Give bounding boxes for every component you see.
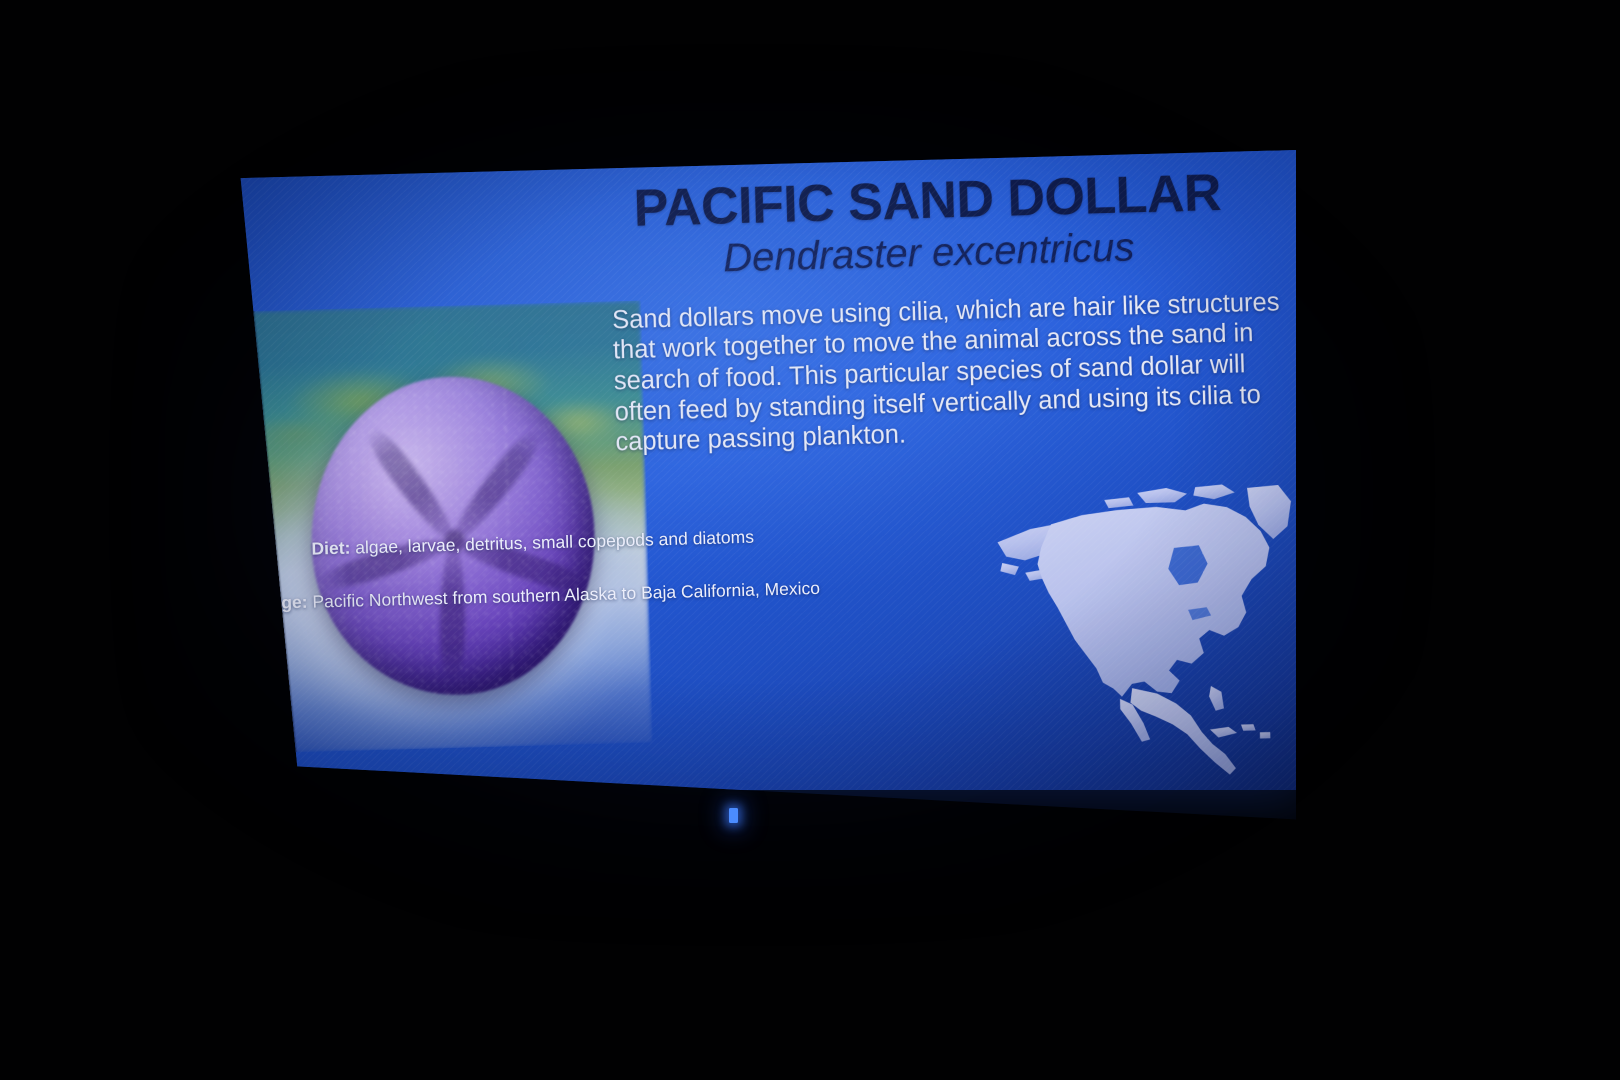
projection-screen-wrapper: PACIFIC SAND DOLLAR Dendraster excentric…	[0, 0, 1620, 1080]
description-paragraph: Sand dollars move using cilia, which are…	[560, 286, 1296, 459]
north-america-range-map	[946, 468, 1296, 789]
map-icon	[946, 468, 1296, 789]
dark-room-scene: PACIFIC SAND DOLLAR Dendraster excentric…	[0, 0, 1620, 1080]
fact-range-value: Pacific Northwest from southern Alaska t…	[307, 577, 820, 611]
projector-led-indicator	[729, 808, 738, 823]
fact-range-label: Range:	[248, 591, 308, 613]
slide-content: PACIFIC SAND DOLLAR Dendraster excentric…	[238, 150, 1296, 790]
fact-diet-label: Diet:	[311, 537, 350, 558]
exhibit-slide: PACIFIC SAND DOLLAR Dendraster excentric…	[238, 150, 1296, 790]
fact-list: Diet: algae, larvae, detritus, small cop…	[241, 524, 827, 645]
fact-range: Range: Pacific Northwest from southern A…	[242, 576, 826, 615]
projection-screen: PACIFIC SAND DOLLAR Dendraster excentric…	[238, 150, 1296, 790]
